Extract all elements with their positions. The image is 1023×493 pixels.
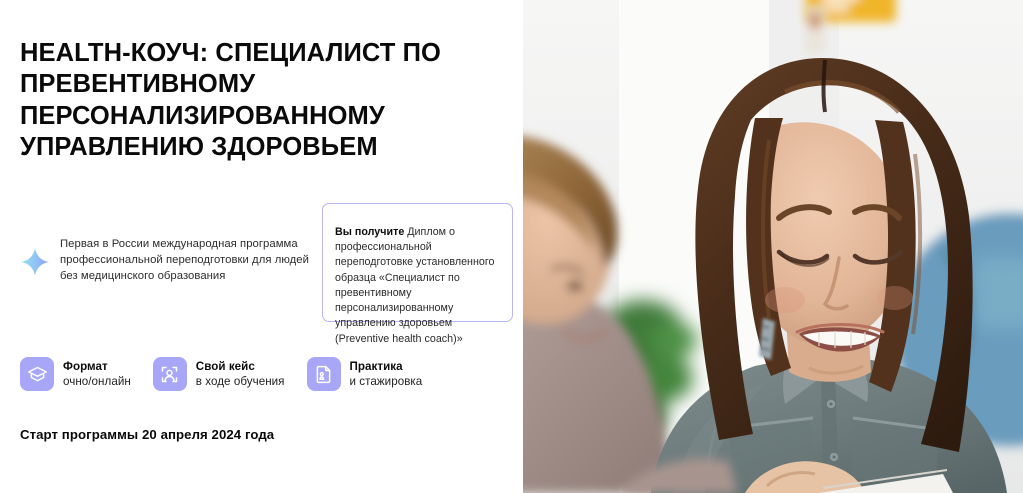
hero-section: HEALTH-КОУЧ: СПЕЦИАЛИСТ ПО ПРЕВЕНТИВНОМУ… <box>0 0 1023 493</box>
program-highlight: Первая в России международная программа … <box>20 236 310 284</box>
graduation-cap-icon <box>20 357 54 391</box>
hero-content-column: HEALTH-КОУЧ: СПЕЦИАЛИСТ ПО ПРЕВЕНТИВНОМУ… <box>0 0 523 493</box>
program-highlight-text: Первая в России международная программа … <box>60 236 310 284</box>
diploma-callout-body: Диплом о профессиональной переподготовке… <box>335 226 495 345</box>
feature-title: Свой кейс <box>196 359 285 374</box>
start-date-text: Старт программы 20 апреля 2024 года <box>20 427 274 442</box>
diploma-callout-lead: Вы получите <box>335 226 404 238</box>
feature-title: Практика <box>350 359 423 374</box>
feature-item-practice: Практика и стажировка <box>307 357 423 391</box>
feature-list: Формат очно/онлайн Свой кейс в ходе обуч… <box>20 357 422 391</box>
feature-subtitle: в ходе обучения <box>196 374 285 389</box>
person-frame-icon <box>153 357 187 391</box>
feature-labels: Свой кейс в ходе обучения <box>196 359 285 390</box>
diploma-callout-box: Вы получите Диплом о профессиональной пе… <box>322 203 513 322</box>
document-person-icon <box>307 357 341 391</box>
feature-title: Формат <box>63 359 131 374</box>
diploma-callout-text: Вы получите Диплом о профессиональной пе… <box>335 225 501 347</box>
feature-labels: Практика и стажировка <box>350 359 423 390</box>
feature-subtitle: очно/онлайн <box>63 374 131 389</box>
feature-subtitle: и стажировка <box>350 374 423 389</box>
feature-labels: Формат очно/онлайн <box>63 359 131 390</box>
hero-photo <box>523 0 1023 493</box>
hero-middle-row: Первая в России международная программа … <box>0 200 523 330</box>
feature-item-own-case: Свой кейс в ходе обучения <box>153 357 285 391</box>
feature-item-format: Формат очно/онлайн <box>20 357 131 391</box>
page-title: HEALTH-КОУЧ: СПЕЦИАЛИСТ ПО ПРЕВЕНТИВНОМУ… <box>20 38 490 164</box>
sparkle-icon <box>18 245 52 279</box>
